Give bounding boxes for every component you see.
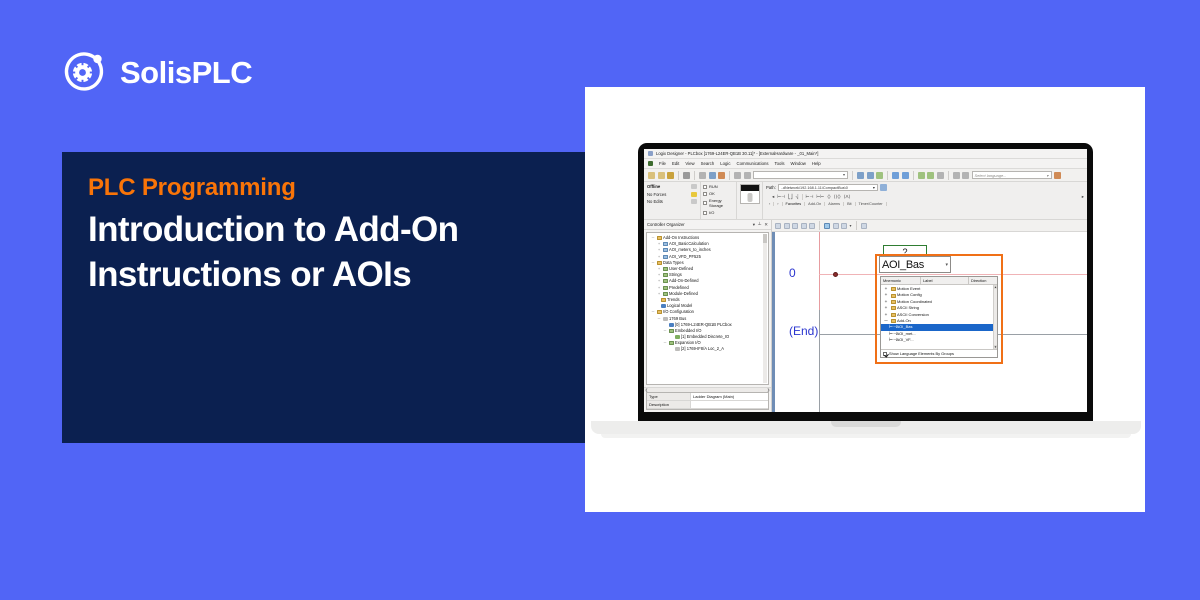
status-row: Offline [647, 184, 697, 189]
led-label-energy-storage: Energy Storage [709, 198, 734, 208]
laptop-base-shadow [601, 434, 1131, 438]
brand-name: SolisPLC [120, 57, 252, 88]
accept-edits-icon[interactable] [833, 223, 839, 229]
rung-end-label: (End) [789, 324, 818, 338]
status-edits-label: No Edits [647, 199, 663, 204]
organizer-header-controls: ▾ ┴ ✕ [753, 222, 768, 228]
status-row: No Forces [647, 192, 697, 197]
organizer-title: Controller Organizer [647, 222, 685, 227]
show-language-elements-label: Show Language Elements By Groups [889, 351, 954, 356]
tab-bit[interactable]: Bit [844, 202, 855, 206]
checkbox-run[interactable] [703, 185, 707, 189]
goto-icon[interactable] [902, 172, 909, 179]
tree-label: Logical Model [667, 303, 692, 309]
led-row: I/O [703, 210, 734, 215]
contact-nc-icon[interactable]: ⊢⊢ [816, 194, 824, 200]
ide-body: Controller Organizer ▾ ┴ ✕ ─Add-On Instr… [644, 220, 1087, 412]
tab-favorites[interactable]: Favorites [783, 202, 806, 206]
controller-status-bar: Offline No Forces No Edits [644, 182, 1087, 220]
tree-label: AOI_meters_to_inches [669, 247, 711, 253]
tab-alarms[interactable]: Alarms [825, 202, 844, 206]
coil-icon[interactable]: ⟨⟩ [827, 194, 831, 200]
hero-eyebrow: PLC Programming [88, 174, 296, 202]
test-edits-icon[interactable] [841, 223, 847, 229]
checkbox-show-language-elements[interactable] [883, 352, 887, 356]
tree-label: 1769 Bus [669, 316, 686, 322]
tree-label: Expansion I/O [675, 340, 701, 346]
menu-help[interactable]: Help [812, 161, 821, 166]
menu-file[interactable]: File [659, 161, 666, 166]
properties-grid: Type Ladder Diagram (Main) Description [646, 392, 769, 410]
tree-label: I/O Configuration [663, 309, 694, 315]
cut-icon[interactable] [699, 172, 706, 179]
toolbar-divider [852, 171, 853, 180]
who-active-icon[interactable] [880, 184, 887, 191]
branch-level-icon[interactable] [792, 223, 798, 229]
laptop-screen: Logix Designer - PLCbox [1769-L24ER-QB1B… [644, 149, 1087, 412]
logix-designer-window: Logix Designer - PLCbox [1769-L24ER-QB1B… [644, 149, 1087, 412]
status-offline-label: Offline [647, 184, 660, 189]
coil-latch-icon[interactable]: ⟨⟩⟨⟩ [834, 194, 841, 200]
toolbar-divider [729, 171, 730, 180]
organizer-scrollbar[interactable] [763, 234, 767, 383]
tab-timer-counter[interactable]: Timer/Counter [856, 202, 887, 206]
toolbar-divider [819, 221, 820, 230]
language-select-value: Select language... [975, 173, 1007, 178]
led-label-io: I/O [709, 210, 714, 215]
menu-tools[interactable]: Tools [775, 161, 785, 166]
toolbar-divider [856, 221, 857, 230]
redo-icon[interactable] [744, 172, 751, 179]
chevron-down-icon: ▾ [843, 173, 845, 177]
window-title: Logix Designer - PLCbox [1769-L24ER-QB1B… [656, 151, 818, 156]
tree-label: [1] Embedded Discrete_IO [681, 334, 729, 340]
rung-error-indicator [833, 272, 838, 277]
path-label: Path: [766, 185, 776, 190]
routine-combo[interactable]: ▾ [753, 171, 848, 179]
checkbox-energy-storage[interactable] [703, 201, 707, 205]
logical-model-icon [661, 304, 666, 308]
scroll-up-icon[interactable]: ▲ [994, 285, 997, 289]
property-value: Ladder Diagram (Main) [691, 393, 768, 400]
tab-scroll-right[interactable]: › [774, 202, 782, 206]
led-row: RUN [703, 184, 734, 189]
contact-no-icon[interactable]: ⊢⊣ [806, 194, 814, 200]
tree-item-1769-if8[interactable]: [2] 1769-IF8/A Loc_2_A [649, 346, 766, 352]
monitor-tags-icon[interactable] [927, 172, 934, 179]
tree-label: Predefined [669, 285, 689, 291]
left-power-rail-lower [819, 310, 820, 412]
property-key: Description [647, 401, 691, 408]
import-rung-icon[interactable] [801, 223, 807, 229]
controller-organizer-panel: Controller Organizer ▾ ┴ ✕ ─Add-On Instr… [644, 220, 772, 412]
hero-panel: PLC Programming Introduction to Add-On I… [62, 152, 585, 443]
tree-label: Module-Defined [669, 291, 698, 297]
tree-label: Strings [669, 272, 682, 278]
toolbar-divider [913, 171, 914, 180]
new-branch-icon[interactable] [784, 223, 790, 229]
chevron-down-icon[interactable]: ▾ [945, 262, 948, 268]
verify-icon[interactable] [857, 172, 864, 179]
controller-thumbnail [737, 182, 763, 219]
search-icon[interactable] [876, 172, 883, 179]
undo-icon[interactable] [734, 172, 741, 179]
app-icon [648, 151, 653, 156]
new-rung-icon[interactable] [775, 223, 781, 229]
menu-window[interactable]: Window [791, 161, 806, 166]
menu-view[interactable]: View [685, 161, 694, 166]
controller-image [740, 184, 760, 204]
tree-label: Data Types [663, 260, 684, 266]
checkbox-io[interactable] [703, 211, 707, 215]
tree-label: AOI_BasicCalculation [669, 241, 709, 247]
path-value: ..dNetwork\192.168.1.11\CompactBus\0 [781, 186, 848, 190]
scroll-down-icon[interactable]: ▼ [994, 345, 997, 349]
toolbar-divider [802, 194, 803, 200]
tree-label: Embedded I/O [675, 328, 701, 334]
tree-label: AOI_VFD_PF525 [669, 254, 701, 260]
window-titlebar: Logix Designer - PLCbox [1769-L24ER-QB1B… [644, 149, 1087, 159]
finalize-edits-icon[interactable] [861, 223, 867, 229]
tree-label: [2] 1769-IF8/A Loc_2_A [681, 346, 724, 352]
property-row: Type Ladder Diagram (Main) [647, 393, 768, 401]
led-label-run: RUN [709, 184, 718, 189]
status-badge [691, 192, 697, 197]
export-rung-icon[interactable] [809, 223, 815, 229]
chevron-down-icon[interactable]: ▾ [753, 222, 755, 228]
toolbar-divider [678, 171, 679, 180]
laptop-base [591, 421, 1141, 434]
copy-icon[interactable] [709, 172, 716, 179]
instruction-tab-bar: ‹ › Favorites Add-On Alarms Bit Timer/Co… [766, 202, 1084, 206]
open-file-icon[interactable] [658, 172, 665, 179]
property-key: Type [647, 393, 691, 400]
nav-prev-icon[interactable]: ◂ [772, 194, 774, 200]
ladder-editor: ▾ 0 (End) [772, 220, 1087, 412]
led-row: OK [703, 191, 734, 196]
language-select[interactable]: Select language... ▾ [972, 171, 1052, 179]
page-title: Introduction to Add-On Instructions or A… [88, 208, 558, 298]
toolbar-divider [694, 171, 695, 180]
menu-communications[interactable]: Communications [737, 161, 769, 166]
help-icon[interactable] [1054, 172, 1061, 179]
instruction-autocomplete-dropdown[interactable]: Mnemonic Label Direction ▲ ▼ +Moti [880, 276, 998, 358]
new-file-icon[interactable] [648, 172, 655, 179]
nav-nest-icon[interactable]: ⎷ [796, 194, 799, 199]
nav-branch-icon[interactable]: ⎣⎦ [788, 194, 793, 200]
toolbar-divider [887, 171, 888, 180]
status-badge [691, 184, 697, 189]
column-label: Label [921, 277, 969, 284]
controller-state-panel: Offline No Forces No Edits [644, 182, 701, 219]
menu-search[interactable]: Search [701, 161, 715, 166]
tree-label: [0] 1769-L24ER-QB1B PLCbox [675, 322, 732, 328]
tree-label: Trends [667, 297, 680, 303]
autocomplete-list[interactable]: ▲ ▼ +Motion Event +Motion Config +Motion… [881, 285, 997, 349]
ladder-canvas[interactable]: 0 (End) ? AOI_Bas ▾ [772, 232, 1087, 412]
menu-logic[interactable]: Logic [720, 161, 730, 166]
edit-rung-icon[interactable] [824, 223, 830, 229]
coil-unlatch-icon[interactable]: ⟨Λ⟩ [844, 194, 851, 200]
property-row: Description [647, 401, 768, 409]
verify-all-icon[interactable] [867, 172, 874, 179]
organizer-header: Controller Organizer ▾ ┴ ✕ [644, 220, 771, 230]
zoom-out-icon[interactable] [962, 172, 969, 179]
main-toolbar: ▾ Select lan [644, 169, 1087, 182]
chevron-down-icon: ▾ [873, 185, 875, 190]
tree-label: Add-On-Defined [669, 278, 699, 284]
paste-icon[interactable] [718, 172, 725, 179]
rung-number: 0 [789, 266, 796, 280]
autocomplete-scrollbar[interactable]: ▲ ▼ [993, 285, 997, 349]
edit-tags-icon[interactable] [918, 172, 925, 179]
bus-icon [663, 317, 668, 321]
menu-edit[interactable]: Edit [672, 161, 679, 166]
led-label-ok: OK [709, 191, 715, 196]
pin-icon[interactable]: ┴ [758, 222, 761, 228]
zoom-in-icon[interactable] [953, 172, 960, 179]
autocomplete-header: Mnemonic Label Direction [881, 277, 997, 285]
chevron-down-icon: ▾ [1046, 173, 1048, 178]
nav-rung-icon[interactable]: ⊢⊣ [777, 194, 785, 200]
ladder-toolbar: ▾ [772, 220, 1087, 232]
item-label: AOI_VF... [897, 337, 914, 343]
column-mnemonic: Mnemonic [881, 277, 921, 284]
tree-label: Add-On Instructions [663, 235, 699, 241]
properties-icon[interactable] [937, 172, 944, 179]
checkbox-ok[interactable] [703, 192, 707, 196]
toolbar-divider [948, 171, 949, 180]
print-icon[interactable] [683, 172, 690, 179]
rung-nav-toolbar: ◂ ⊢⊣ ⎣⎦ ⎷ ⊢⊣ ⊢⊢ ⟨⟩ ⟨⟩⟨⟩ ⟨Λ⟩ ▸ [766, 194, 1084, 200]
laptop-mockup: Logix Designer - PLCbox [1769-L24ER-QB1B… [638, 143, 1093, 426]
status-badge [691, 199, 697, 204]
tab-add-on[interactable]: Add-On [805, 202, 825, 206]
autocomplete-item-aoi-vf[interactable]: ⊢⊣AOI_VF... [881, 337, 997, 343]
laptop-lid: Logix Designer - PLCbox [1769-L24ER-QB1B… [638, 143, 1093, 426]
instruction-mnemonic-value: AOI_Bas [882, 259, 924, 271]
tab-scroll-left[interactable]: ‹ [766, 202, 774, 206]
tree-label: User-Defined [669, 266, 693, 272]
menubar: File Edit View Search Logic Communicatio… [644, 159, 1087, 169]
module-icon [675, 335, 680, 339]
column-direction: Direction [969, 277, 997, 284]
close-icon[interactable]: ✕ [764, 222, 768, 228]
controller-led-panel: RUN OK Energy Storage I/O [701, 182, 737, 219]
browse-icon[interactable] [892, 172, 899, 179]
communication-path-panel: Path: ..dNetwork\192.168.1.11\CompactBus… [763, 182, 1087, 219]
organizer-tree[interactable]: ─Add-On Instructions +AOI_BasicCalculati… [646, 232, 769, 385]
nav-more-icon[interactable]: ▸ [1082, 194, 1084, 200]
status-forces-label: No Forces [647, 192, 666, 197]
module-icon [675, 347, 680, 351]
save-icon[interactable] [667, 172, 674, 179]
controller-icon [669, 323, 674, 327]
path-row: Path: ..dNetwork\192.168.1.11\CompactBus… [766, 184, 1084, 191]
path-input[interactable]: ..dNetwork\192.168.1.11\CompactBus\0 ▾ [778, 184, 878, 191]
led-row: Energy Storage [703, 198, 734, 208]
gear-orbit-icon [62, 50, 106, 94]
property-value [691, 401, 768, 408]
instruction-mnemonic-input[interactable]: AOI_Bas ▾ [879, 256, 951, 273]
brand-logo: SolisPLC [62, 50, 252, 94]
status-row: No Edits [647, 199, 697, 204]
chevron-down-icon[interactable]: ▾ [850, 223, 852, 228]
autocomplete-footer: Show Language Elements By Groups [881, 349, 997, 357]
document-icon [648, 161, 653, 166]
